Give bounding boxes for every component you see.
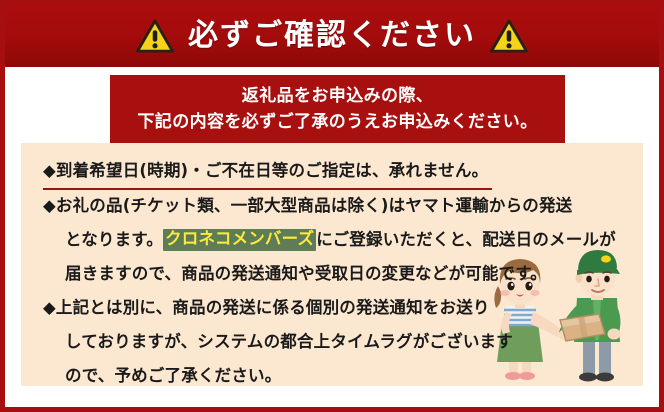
notice-card: 必ずご確認ください 返礼品をお申込みの際、 下記の内容を必ずご了承のうえお申込み… [0, 0, 664, 412]
warning-triangle-icon [490, 19, 528, 53]
terms-line-text: ので、予めご了承ください。 [65, 368, 281, 385]
terms-panel: ◆到着希望日(時期)・ご不在日等のご指定は、承れません。 ◆お礼の品(チケット類… [21, 143, 643, 386]
header-banner: 必ずご確認ください [5, 5, 659, 69]
terms-line: ◆到着希望日(時期)・ご不在日等のご指定は、承れません。 [43, 154, 492, 190]
terms-line-prefix: となります。 [65, 232, 163, 249]
terms-line: しておりますが、システムの都合上タイムラグがございます [43, 325, 643, 359]
intro-banner-line-1: 返礼品をお申込みの際、 [242, 83, 433, 109]
terms-line-suffix: にご登録いただくと、配送日のメールが [316, 232, 616, 249]
intro-banner: 返礼品をお申込みの際、 下記の内容を必ずご了承のうえお申込みください。 [110, 75, 565, 143]
kuroneko-members-highlight: クロネコメンバーズ [163, 229, 316, 251]
intro-banner-line-2: 下記の内容を必ずご了承のうえお申込みください。 [137, 109, 537, 135]
terms-line: ので、予めご了承ください。 [43, 359, 643, 386]
page-title: 必ずご確認ください [188, 21, 476, 51]
list-item: ◆お礼の品(チケット類、一部大型商品は除く)はヤマト運輸からの発送 [43, 189, 643, 223]
terms-line-text: しておりますが、システムの都合上タイムラグがございます [65, 334, 513, 351]
terms-line-highlighted: となります。クロネコメンバーズにご登録いただくと、配送日のメールが [43, 223, 643, 257]
list-item: ◆上記とは別に、商品の発送に係る個別の発送通知をお送り [43, 291, 643, 325]
terms-line-text: 届きますので、商品の発送通知や受取日の変更などが可能です。 [65, 266, 547, 283]
list-item: ◆到着希望日(時期)・ご不在日等のご指定は、承れません。 [43, 155, 643, 189]
terms-line: ◆お礼の品(チケット類、一部大型商品は除く)はヤマト運輸からの発送 [43, 198, 572, 215]
warning-triangle-icon [136, 19, 174, 53]
terms-line: ◆上記とは別に、商品の発送に係る個別の発送通知をお送り [43, 300, 490, 317]
terms-line: 届きますので、商品の発送通知や受取日の変更などが可能です。 [43, 257, 643, 291]
notice-body: 返礼品をお申込みの際、 下記の内容を必ずご了承のうえお申込みください。 ◆到着希… [5, 67, 659, 407]
terms-list: ◆到着希望日(時期)・ご不在日等のご指定は、承れません。 ◆お礼の品(チケット類… [21, 155, 643, 386]
